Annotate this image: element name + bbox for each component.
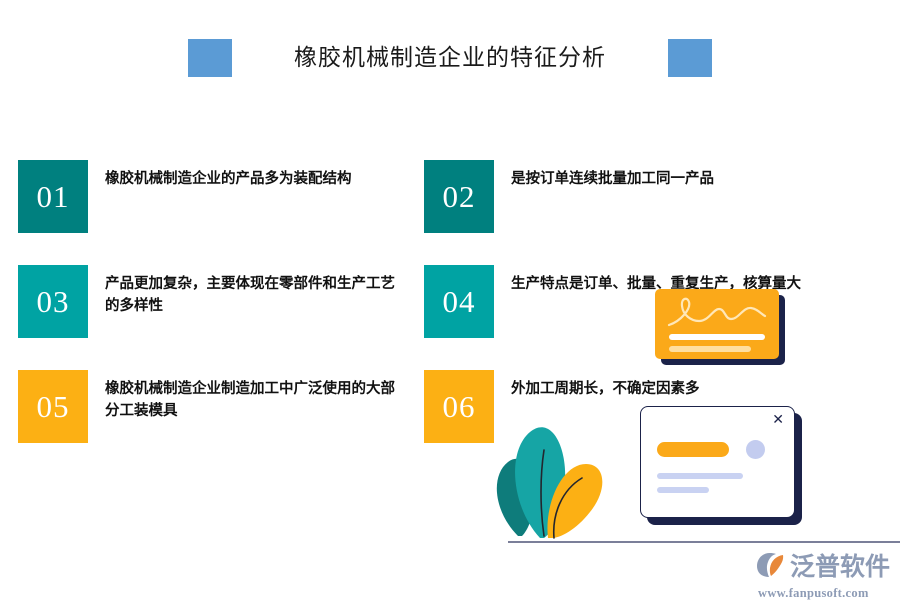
fanpu-logo-mark-icon [756, 551, 786, 584]
dialog-primary-button[interactable] [657, 442, 729, 457]
note-card-line-1 [669, 334, 765, 340]
avatar-circle-icon [746, 440, 765, 459]
close-icon[interactable]: ✕ [772, 412, 784, 426]
card-text-06: 外加工周期长，不确定因素多 [494, 370, 811, 400]
logo-row: 泛普软件 [756, 551, 896, 584]
signature-squiggle-icon [665, 295, 769, 329]
dialog-text-line-2 [657, 487, 709, 493]
note-card-line-2 [669, 346, 751, 352]
ground-divider-line [508, 541, 900, 543]
logo-company-name: 泛普软件 [790, 555, 890, 580]
card-number-badge-05: 05 [18, 370, 88, 443]
card-text-05: 橡胶机械制造企业制造加工中广泛使用的大部分工装模具 [88, 370, 405, 423]
feature-card-02[interactable]: 02 是按订单连续批量加工同一产品 [424, 160, 824, 233]
dialog-illustration: ✕ [640, 406, 806, 526]
card-number-badge-02: 02 [424, 160, 494, 233]
card-number-badge-04: 04 [424, 265, 494, 338]
page-header: 橡胶机械制造企业的特征分析 [0, 32, 900, 84]
dialog-text-line-1 [657, 473, 743, 479]
page-title: 橡胶机械制造企业的特征分析 [232, 44, 668, 72]
header-square-right-decor [668, 39, 712, 77]
note-card-body [655, 289, 779, 359]
feature-card-03[interactable]: 03 产品更加复杂，主要体现在零部件和生产工艺的多样性 [18, 265, 418, 338]
signature-note-illustration [655, 289, 785, 365]
brand-logo[interactable]: 泛普软件 www.fanpusoft.com [756, 551, 896, 595]
card-text-01: 橡胶机械制造企业的产品多为装配结构 [88, 160, 405, 190]
feature-card-05[interactable]: 05 橡胶机械制造企业制造加工中广泛使用的大部分工装模具 [18, 370, 418, 443]
logo-website-url: www.fanpusoft.com [758, 586, 896, 600]
plant-icon [478, 404, 618, 544]
card-text-02: 是按订单连续批量加工同一产品 [494, 160, 811, 190]
card-number-badge-03: 03 [18, 265, 88, 338]
header-square-left-decor [188, 39, 232, 77]
feature-card-01[interactable]: 01 橡胶机械制造企业的产品多为装配结构 [18, 160, 418, 233]
card-number-badge-01: 01 [18, 160, 88, 233]
slide-canvas: 橡胶机械制造企业的特征分析 01 橡胶机械制造企业的产品多为装配结构 02 是按… [0, 0, 900, 600]
dialog-body: ✕ [640, 406, 795, 518]
card-text-03: 产品更加复杂，主要体现在零部件和生产工艺的多样性 [88, 265, 405, 318]
plant-illustration [478, 404, 618, 544]
